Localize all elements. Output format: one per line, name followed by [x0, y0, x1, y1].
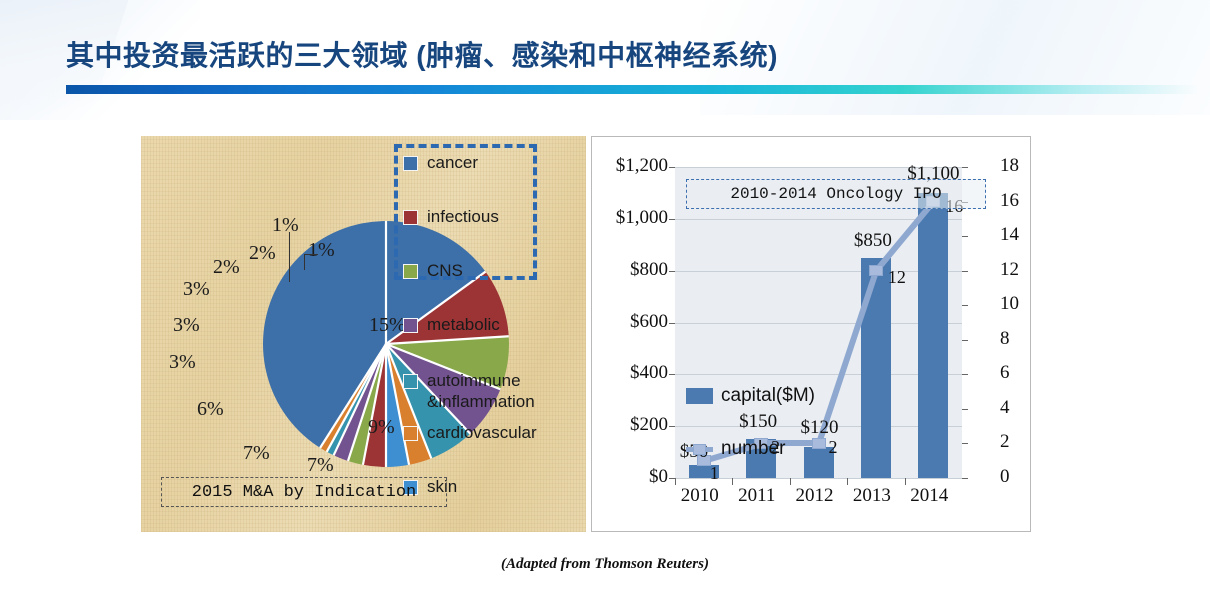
- y-tick-label: $200: [630, 414, 668, 436]
- pie-percent-label: 2%: [249, 242, 276, 265]
- legend-item-label: cardiovascular: [427, 422, 537, 443]
- pie-chart-panel: 15%9%7%7%6%3%3%3%2%2%1%1% cancerinfectio…: [141, 136, 586, 532]
- x-tick-label-2013: 2013: [853, 485, 891, 507]
- chart-legend-label: capital($M): [721, 385, 815, 407]
- bar-chart-title: 2010-2014 Oncology IPO: [686, 179, 986, 209]
- legend-swatch-icon: [403, 264, 418, 279]
- y2-tick-label: 0: [1000, 466, 1010, 488]
- pie-percent-label: 1%: [272, 214, 299, 237]
- pie-percent-label: 6%: [197, 398, 224, 421]
- legend-swatch-icon: [403, 210, 418, 225]
- x-tick-mark: [732, 478, 733, 485]
- y-tick-label: $1,000: [616, 207, 668, 229]
- y-tick-mark: [669, 219, 675, 220]
- y2-tick-mark: [962, 478, 968, 479]
- y-tick-mark: [669, 271, 675, 272]
- legend-item-metabolic[interactable]: metabolic: [403, 314, 500, 335]
- y-tick-label: $600: [630, 311, 668, 333]
- legend-swatch-icon: [403, 374, 418, 389]
- y2-tick-mark: [962, 443, 968, 444]
- pie-percent-label: 3%: [173, 314, 200, 337]
- y-tick-mark: [669, 374, 675, 375]
- legend-swatch-icon: [403, 318, 418, 333]
- line-value-label-2010: 1: [710, 463, 719, 484]
- y-tick-mark: [669, 167, 675, 168]
- bar-value-label-2011: $150: [739, 411, 777, 433]
- line-value-label-2013: 12: [888, 267, 906, 288]
- y2-tick-label: 12: [1000, 259, 1019, 281]
- legend-swatch-icon: [403, 156, 418, 171]
- y2-tick-label: 10: [1000, 293, 1019, 315]
- x-tick-label-2014: 2014: [910, 485, 948, 507]
- y-tick-label: $0: [649, 466, 668, 488]
- pie-percent-label: 15%: [369, 314, 406, 337]
- x-tick-mark: [847, 478, 848, 485]
- title-divider: [66, 85, 1198, 94]
- legend-swatch-icon: [403, 426, 418, 441]
- y-tick-label: $400: [630, 362, 668, 384]
- y2-tick-mark: [962, 271, 968, 272]
- legend-item-cancer[interactable]: cancer: [403, 152, 478, 173]
- line-marker-2012[interactable]: [812, 438, 826, 449]
- x-tick-mark: [675, 478, 676, 485]
- legend-item-label: cancer: [427, 152, 478, 173]
- legend-bar-icon: [686, 388, 713, 404]
- y2-tick-label: 16: [1000, 190, 1019, 212]
- legend-item-label: metabolic: [427, 314, 500, 335]
- bar-chart-panel: $0$200$400$600$800$1,000$1,200 024681012…: [591, 136, 1031, 532]
- bar-value-label-2013: $850: [854, 230, 892, 252]
- leader-line: [304, 254, 318, 255]
- y-tick-mark: [669, 323, 675, 324]
- pie-percent-label: 7%: [307, 454, 334, 477]
- legend-item-label: infectious: [427, 206, 499, 227]
- legend-item-cardiovascular[interactable]: cardiovascular: [403, 422, 537, 443]
- source-caption: (Adapted from Thomson Reuters): [0, 556, 1210, 573]
- pie-percent-label: 1%: [308, 239, 335, 262]
- y2-tick-mark: [962, 409, 968, 410]
- y2-tick-label: 8: [1000, 328, 1010, 350]
- chart-legend-item-capital[interactable]: capital($M): [686, 385, 815, 407]
- y-tick-label: $800: [630, 259, 668, 281]
- y2-tick-mark: [962, 305, 968, 306]
- legend-line-icon: [686, 441, 713, 457]
- y2-tick-label: 4: [1000, 397, 1010, 419]
- y2-tick-label: 6: [1000, 362, 1010, 384]
- legend-item-label: autoimmune &inflammation: [427, 370, 535, 412]
- pie-percent-label: 9%: [368, 416, 395, 439]
- pie-percent-label: 3%: [183, 278, 210, 301]
- y-tick-label: $1,200: [616, 155, 668, 177]
- pie-percent-label: 2%: [213, 256, 240, 279]
- x-tick-label-2010: 2010: [681, 485, 719, 507]
- line-marker-2013[interactable]: [869, 265, 883, 276]
- chart-legend-label: number: [721, 438, 785, 460]
- x-tick-mark: [905, 478, 906, 485]
- y-tick-mark: [669, 426, 675, 427]
- x-tick-label-2012: 2012: [796, 485, 834, 507]
- y2-tick-mark: [962, 167, 968, 168]
- chart-legend-item-number[interactable]: number: [686, 438, 785, 460]
- pie-caption: 2015 M&A by Indication: [161, 477, 447, 507]
- pie-percent-label: 7%: [243, 442, 270, 465]
- y2-tick-label: 2: [1000, 431, 1010, 453]
- leader-line: [304, 254, 305, 270]
- x-tick-label-2011: 2011: [738, 485, 775, 507]
- y2-tick-mark: [962, 374, 968, 375]
- legend-item-autoimmune[interactable]: autoimmune &inflammation: [403, 370, 535, 412]
- bar-value-label-2012: $120: [801, 417, 839, 439]
- y2-tick-mark: [962, 340, 968, 341]
- y2-tick-label: 14: [1000, 224, 1019, 246]
- page-title: 其中投资最活跃的三大领域 (肿瘤、感染和中枢神经系统): [66, 34, 778, 74]
- legend-item-cns[interactable]: CNS: [403, 260, 463, 281]
- pie-percent-label: 3%: [169, 351, 196, 374]
- leader-line: [289, 232, 290, 282]
- bar-2014[interactable]: [918, 193, 948, 478]
- y2-tick-label: 18: [1000, 155, 1019, 177]
- y2-tick-mark: [962, 236, 968, 237]
- legend-item-infectious[interactable]: infectious: [403, 206, 499, 227]
- legend-item-label: CNS: [427, 260, 463, 281]
- x-tick-mark: [790, 478, 791, 485]
- line-value-label-2012: 2: [829, 437, 838, 458]
